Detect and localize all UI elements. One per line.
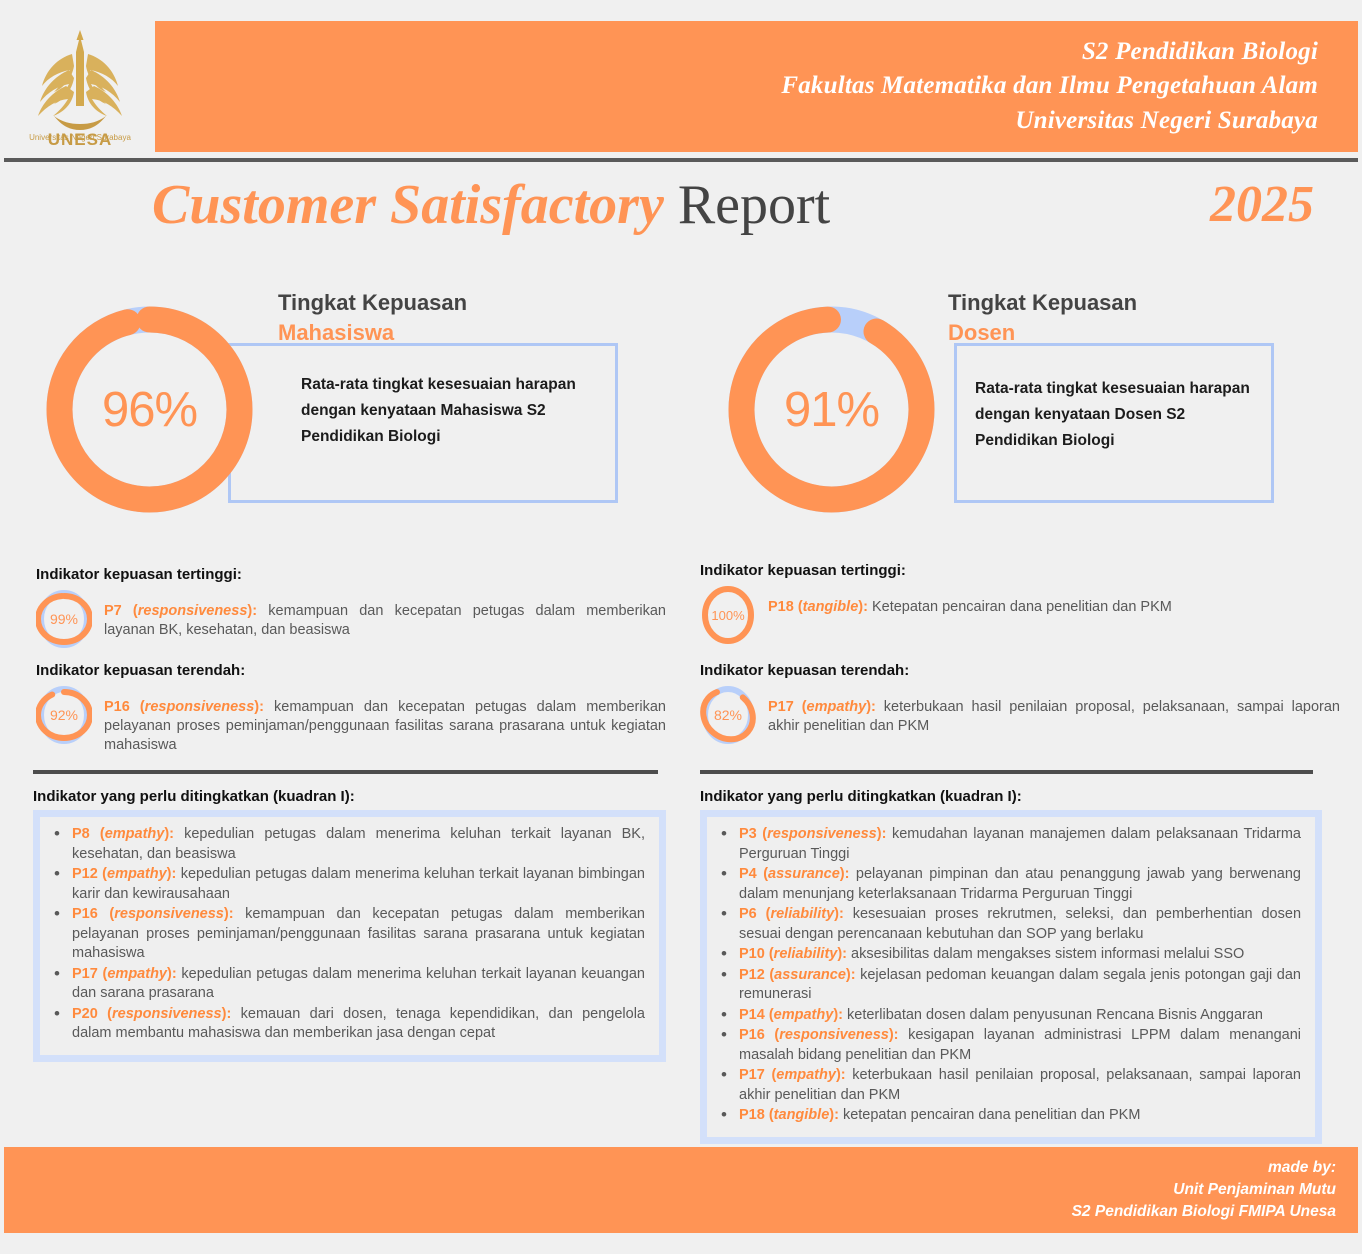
lowest-section-mahasiswa: Indikator kepuasan terendah: 92% P16 (re…: [36, 662, 666, 755]
panel-heading-sub: Dosen: [948, 318, 1348, 348]
quadrant-item-code: P8 (empathy):: [72, 826, 174, 842]
quadrant-item-code: P4 (assurance):: [739, 866, 849, 882]
page-title-accent: Customer Satisfactory: [152, 174, 664, 236]
quadrant-list-item: P3 (responsiveness): kemudahan layanan m…: [739, 825, 1301, 864]
quadrant-item-code: P18 (tangible):: [739, 1107, 839, 1123]
quadrant-list-item: P12 (assurance): kejelasan pedoman keuan…: [739, 966, 1301, 1005]
quadrant-box-dosen: P3 (responsiveness): kemudahan layanan m…: [700, 810, 1322, 1144]
gauge-donut-dosen: 91%: [724, 302, 939, 517]
highest-text: P7 (responsiveness): kemampuan dan kecep…: [104, 589, 666, 640]
summary-block-dosen: Tingkat Kepuasan Dosen Rata-rata tingkat…: [700, 280, 1360, 550]
footer-bar: made by: Unit Penjaminan Mutu S2 Pendidi…: [4, 1147, 1358, 1233]
lowest-text: P17 (empathy): keterbukaan hasil penilai…: [768, 685, 1340, 736]
highest-section-mahasiswa: Indikator kepuasan tertinggi: 99% P7 (re…: [36, 566, 666, 649]
quadrant-list-item: P10 (reliability): aksesibilitas dalam m…: [739, 945, 1301, 965]
gauge-value-dosen: 91%: [724, 302, 939, 517]
quadrant-item-text: keterlibatan dosen dalam penyusunan Renc…: [843, 1007, 1263, 1023]
quadrant-item-code: P17 (empathy):: [72, 966, 177, 982]
quadrant-item-text: aksesibilitas dalam mengakses sistem inf…: [847, 946, 1244, 962]
quadrant-list-item: P6 (reliability): kesesuaian proses rekr…: [739, 905, 1301, 944]
lowest-code: P17 (empathy):: [768, 699, 876, 715]
highest-row: 99% P7 (responsiveness): kemampuan dan k…: [36, 589, 666, 649]
quadrant-list-item: P4 (assurance): pelayanan pimpinan dan a…: [739, 865, 1301, 904]
page-title-plain: Report: [664, 174, 830, 236]
mini-gauge-lowest-mahasiswa: 92%: [36, 685, 92, 745]
highest-title: Indikator kepuasan tertinggi:: [36, 566, 666, 583]
quadrant-list-dosen: P3 (responsiveness): kemudahan layanan m…: [717, 825, 1301, 1126]
highest-desc: Ketepatan pencairan dana penelitian dan …: [868, 599, 1172, 615]
quadrant-item-code: P16 (responsiveness):: [739, 1027, 899, 1043]
quadrant-item-code: P12 (empathy):: [72, 866, 176, 882]
quadrant-list-item: P16 (responsiveness): kemampuan dan kece…: [72, 905, 645, 964]
quadrant-list-item: P18 (tangible): ketepatan pencairan dana…: [739, 1106, 1301, 1126]
highest-title: Indikator kepuasan tertinggi:: [700, 562, 1340, 579]
mini-gauge-highest-mahasiswa: 99%: [36, 589, 92, 649]
quadrant-item-code: P14 (empathy):: [739, 1007, 843, 1023]
quadrant-item-code: P10 (reliability):: [739, 946, 847, 962]
header-divider: [4, 158, 1358, 162]
quadrant-item-code: P16 (responsiveness):: [72, 906, 234, 922]
panel-mahasiswa: Tingkat Kepuasan Mahasiswa Rata-rata tin…: [18, 280, 678, 1140]
footer-made-by: made by:: [1072, 1157, 1336, 1179]
quadrant-list-item: P14 (empathy): keterlibatan dosen dalam …: [739, 1006, 1301, 1026]
lowest-title: Indikator kepuasan terendah:: [700, 662, 1340, 679]
page-title: Customer Satisfactory Report: [152, 168, 830, 242]
lowest-section-dosen: Indikator kepuasan terendah: 82% P17 (em…: [700, 662, 1340, 745]
quadrant-title-mahasiswa: Indikator yang perlu ditingkatkan (kuadr…: [33, 788, 663, 805]
highest-code: P18 (tangible):: [768, 599, 868, 615]
highest-section-dosen: Indikator kepuasan tertinggi: 100% P18 (…: [700, 562, 1340, 645]
mini-gauge-value: 92%: [36, 685, 92, 745]
panel-heading-mahasiswa: Tingkat Kepuasan Mahasiswa: [278, 288, 678, 348]
quadrant-item-text: ketepatan pencairan dana penelitian dan …: [839, 1107, 1141, 1123]
footer-unit: Unit Penjaminan Mutu: [1072, 1179, 1336, 1201]
panel-dosen: Tingkat Kepuasan Dosen Rata-rata tingkat…: [700, 280, 1360, 1140]
lowest-code: P16 (responsiveness):: [104, 699, 264, 715]
quadrant-item-code: P3 (responsiveness):: [739, 826, 886, 842]
panel-heading-dosen: Tingkat Kepuasan Dosen: [948, 288, 1348, 348]
section-divider: [700, 770, 1313, 774]
mini-gauge-value: 82%: [700, 685, 756, 745]
mini-gauge-highest-dosen: 100%: [700, 585, 756, 645]
header-line-faculty: Fakultas Matematika dan Ilmu Pengetahuan…: [781, 69, 1318, 104]
panel-heading-top: Tingkat Kepuasan: [948, 290, 1137, 315]
lowest-text: P16 (responsiveness): kemampuan dan kece…: [104, 685, 666, 755]
quadrant-list-mahasiswa: P8 (empathy): kepedulian petugas dalam m…: [50, 825, 645, 1044]
gauge-donut-mahasiswa: 96%: [42, 302, 257, 517]
summary-box-text: Rata-rata tingkat kesesuaian harapan den…: [301, 372, 601, 450]
panel-heading-sub: Mahasiswa: [278, 318, 678, 348]
infographic-page: UNESA Universitas Negeri Surabaya S2 Pen…: [0, 0, 1362, 1254]
highest-code: P7 (responsiveness):: [104, 603, 257, 619]
footer-program: S2 Pendidikan Biologi FMIPA Unesa: [1072, 1201, 1336, 1223]
quadrant-list-item: P12 (empathy): kepedulian petugas dalam …: [72, 865, 645, 904]
quadrant-item-code: P17 (empathy):: [739, 1067, 846, 1083]
highest-text: P18 (tangible): Ketepatan pencairan dana…: [768, 585, 1340, 617]
lowest-row: 82% P17 (empathy): keterbukaan hasil pen…: [700, 685, 1340, 745]
quadrant-item-code: P12 (assurance):: [739, 967, 856, 983]
header-line-university: Universitas Negeri Surabaya: [781, 104, 1318, 139]
mini-gauge-value: 99%: [36, 589, 92, 649]
report-year: 2025: [1210, 168, 1314, 242]
quadrant-item-code: P6 (reliability):: [739, 906, 844, 922]
quadrant-box-mahasiswa: P8 (empathy): kepedulian petugas dalam m…: [33, 810, 666, 1062]
footer-credits: made by: Unit Penjaminan Mutu S2 Pendidi…: [1072, 1157, 1358, 1223]
quadrant-list-item: P8 (empathy): kepedulian petugas dalam m…: [72, 825, 645, 864]
quadrant-list-item: P17 (empathy): kepedulian petugas dalam …: [72, 965, 645, 1004]
section-divider: [33, 770, 658, 774]
header-bar: S2 Pendidikan Biologi Fakultas Matematik…: [155, 21, 1358, 152]
quadrant-list-item: P20 (responsiveness): kemauan dari dosen…: [72, 1005, 645, 1044]
lowest-title: Indikator kepuasan terendah:: [36, 662, 666, 679]
lowest-row: 92% P16 (responsiveness): kemampuan dan …: [36, 685, 666, 755]
summary-block-mahasiswa: Tingkat Kepuasan Mahasiswa Rata-rata tin…: [18, 280, 678, 550]
quadrant-title-dosen: Indikator yang perlu ditingkatkan (kuadr…: [700, 788, 1330, 805]
panel-heading-top: Tingkat Kepuasan: [278, 290, 467, 315]
quadrant-item-code: P20 (responsiveness):: [72, 1006, 231, 1022]
svg-text:UNESA: UNESA: [48, 130, 113, 149]
quadrant-list-item: P17 (empathy): keterbukaan hasil penilai…: [739, 1066, 1301, 1105]
gauge-value-mahasiswa: 96%: [42, 302, 257, 517]
highest-row: 100% P18 (tangible): Ketepatan pencairan…: [700, 585, 1340, 645]
header-affiliation: S2 Pendidikan Biologi Fakultas Matematik…: [781, 35, 1358, 139]
summary-box-text: Rata-rata tingkat kesesuaian harapan den…: [975, 376, 1265, 454]
mini-gauge-value: 100%: [700, 585, 756, 645]
mini-gauge-lowest-dosen: 82%: [700, 685, 756, 745]
header-line-program: S2 Pendidikan Biologi: [781, 35, 1318, 70]
unesa-logo: UNESA: [14, 20, 146, 150]
quadrant-list-item: P16 (responsiveness): kesigapan layanan …: [739, 1026, 1301, 1065]
title-row: Customer Satisfactory Report 2025: [0, 168, 1362, 253]
